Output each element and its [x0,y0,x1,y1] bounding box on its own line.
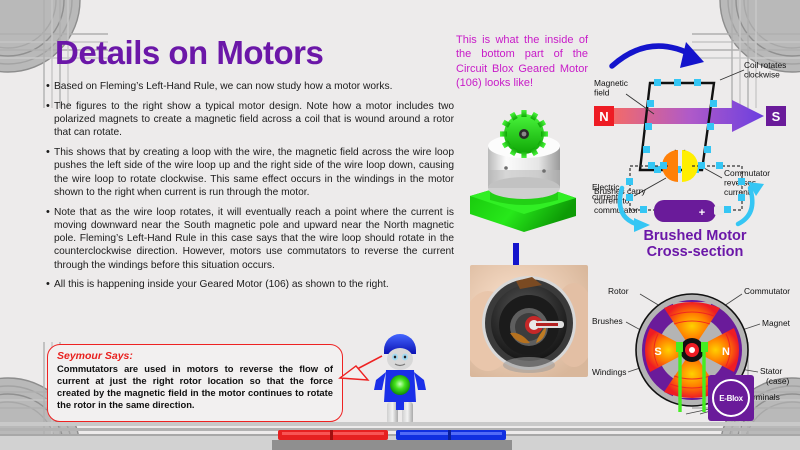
motor-inside-photo [470,265,588,377]
south-pole-label: S [772,109,781,124]
bullet-marker: • [46,80,54,93]
brushed-motor-cross-section-diagram: S N Rotor Commutator Brushes Magnet Wind… [592,262,792,432]
list-item-text: All this is happening inside your Geared… [54,278,454,291]
bullet-marker: • [46,100,54,140]
list-item: • Based on Fleming’s Left-Hand Rule, we … [46,80,454,93]
callout-text: Commutators are used in motors to revers… [57,363,333,411]
bullet-marker: • [46,278,54,291]
list-item-text: Based on Fleming’s Left-Hand Rule, we ca… [54,80,454,93]
list-item-text: This shows that by creating a loop with … [54,146,454,199]
cross-section-title-line2: Cross-section [600,244,790,260]
windings-label: Windings [592,367,626,377]
north-pole-label: N [599,109,608,124]
magnetic-field-label: Magneticfield [594,78,628,98]
list-item: • All this is happening inside your Gear… [46,278,454,291]
coil-rotates-label: Coil rotatesclockwise [744,60,786,80]
motor-circuit-lower: + Electriccurrent [592,148,792,238]
list-item: • The figures to the right show a typica… [46,100,454,140]
rotation-arrow-icon [612,42,704,68]
electric-current-label: Electriccurrent [592,182,619,202]
bullet-marker: • [46,146,54,199]
inside-motor-note: This is what the inside of the bottom pa… [456,33,588,90]
list-item-text: The figures to the right show a typical … [54,100,454,140]
eblox-logo-text: E-Blox [712,379,750,417]
list-item-text: Note that as the wire loop rotates, it w… [54,206,454,272]
battery-plus-label: + [699,207,705,219]
cross-section-north-label: N [722,346,730,358]
brushes-label-xsec: Brushes [592,316,623,326]
seymour-says-callout: Seymour Says: Commutators are used in mo… [47,344,343,422]
rotor-label: Rotor [608,286,629,296]
list-item: • Note that as the wire loop rotates, it… [46,206,454,272]
page-title: Details on Motors [55,34,323,72]
slide-canvas: Details on Motors • Based on Fleming’s L… [0,0,800,450]
list-item: • This shows that by creating a loop wit… [46,146,454,199]
bullet-marker: • [46,206,54,272]
stator-label: Stator(case) [760,366,789,386]
callout-speaker-label: Seymour Says: [57,350,333,362]
commutator-label-xsec: Commutator [744,286,790,296]
bottom-decorative-bar [0,414,800,450]
body-bullet-list: • Based on Fleming’s Left-Hand Rule, we … [46,80,454,298]
cross-section-title: Brushed Motor Cross-section [600,228,790,260]
geared-motor-photo [462,108,584,238]
cross-section-title-line1: Brushed Motor [600,228,790,244]
magnet-label: Magnet [762,318,791,328]
cross-section-south-label: S [654,346,661,358]
